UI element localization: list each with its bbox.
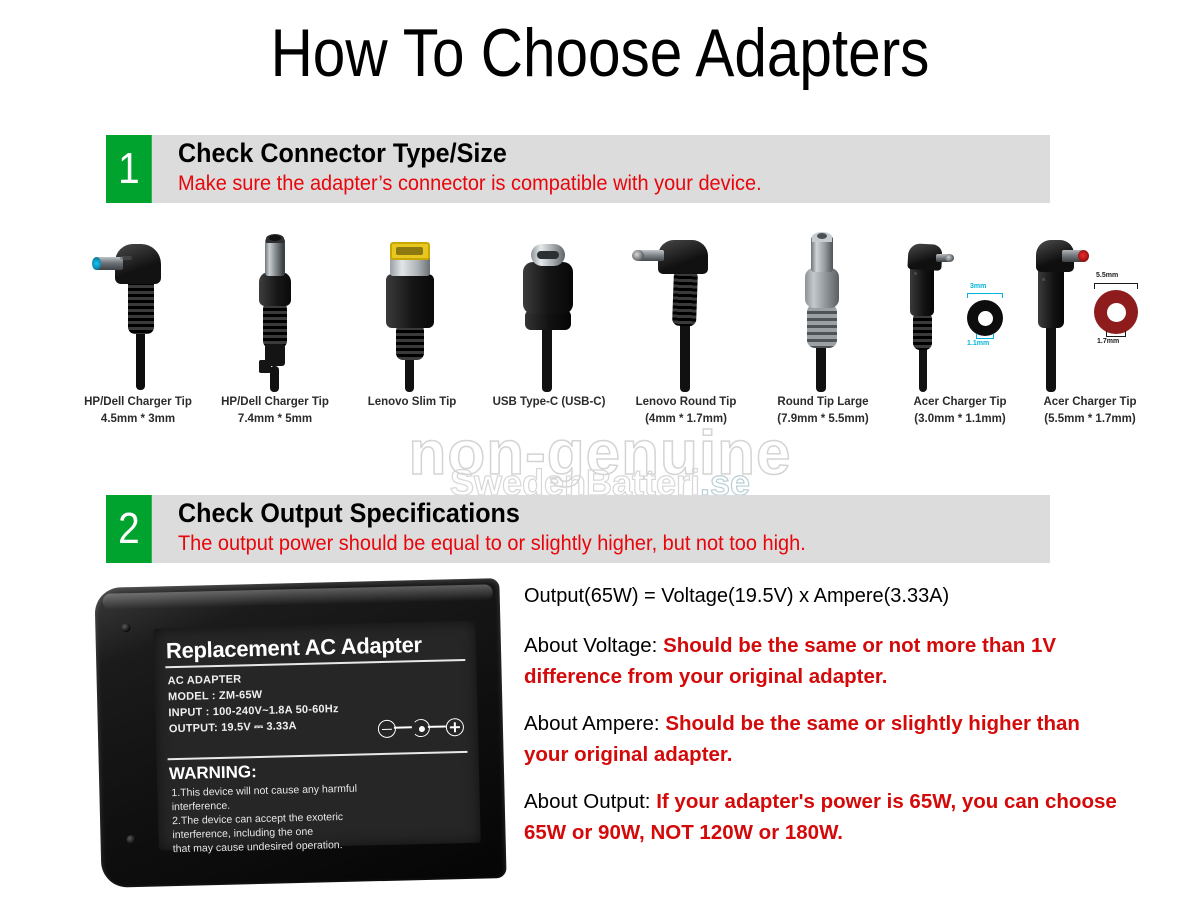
connector-item-acer-3.0[interactable]: 3mm 1.1mm Acer Charger Tip(3.0mm * 1.1mm…	[892, 228, 1028, 443]
acer-charger-tip-small-icon: 3mm 1.1mm	[892, 228, 1028, 393]
acer-5.5mm-dimension-diagram: 5.5mm 1.7mm	[1084, 272, 1154, 346]
step-1-header-band: 1 Check Connector Type/Size Make sure th…	[106, 135, 1050, 203]
infographic-page: How To Choose Adapters 1 Check Connector…	[0, 0, 1200, 900]
connector-gallery: HP/Dell Charger Tip4.5mm * 3mm HP/Dell C…	[60, 228, 1150, 443]
connector-item-lenovo-slim[interactable]: Lenovo Slim Tip	[344, 228, 480, 443]
adapter-label-panel: Replacement AC Adapter AC ADAPTER MODEL …	[153, 621, 480, 851]
adapter-warning-line-1: 1.This device will not cause any harmful	[171, 782, 357, 801]
connector-item-round-large[interactable]: Round Tip Large(7.9mm * 5.5mm)	[755, 228, 891, 443]
acer-charger-tip-large-icon: 5.5mm 1.7mm	[1022, 228, 1158, 393]
connector-item-hp-dell-7.4mm[interactable]: HP/Dell Charger Tip7.4mm * 5mm	[207, 228, 343, 443]
usb-type-c-connector-icon	[481, 228, 617, 393]
step-1-title: Check Connector Type/Size	[178, 137, 983, 169]
adapter-spec-input: INPUT : 100-240V~1.8A 50-60Hz	[168, 702, 338, 721]
adapter-screw-top-left	[121, 623, 130, 632]
connector-caption: Lenovo Round Tip(4mm * 1.7mm)	[606, 394, 766, 428]
lenovo-slim-rectangular-tip-icon	[344, 228, 480, 393]
round-tip-large-gray-icon	[755, 228, 891, 393]
connector-caption: Round Tip Large(7.9mm * 5.5mm)	[743, 394, 903, 428]
step-2-subtitle: The output power should be equal to or s…	[178, 531, 1001, 557]
output-specs-text-column: Output(65W) = Voltage(19.5V) x Ampere(3.…	[524, 585, 1124, 864]
connector-caption: HP/Dell Charger Tip7.4mm * 5mm	[195, 394, 355, 428]
adapter-spec-model: MODEL : ZM-65W	[168, 688, 263, 705]
adapter-screw-bottom-left	[126, 835, 135, 844]
step-2-number-badge: 2	[106, 495, 152, 563]
connector-caption: HP/Dell Charger Tip4.5mm * 3mm	[58, 394, 218, 428]
page-title: How To Choose Adapters	[84, 14, 1116, 92]
acer-3mm-dimension-diagram: 3mm 1.1mm	[958, 284, 1020, 346]
step-2-header-band: 2 Check Output Specifications The output…	[106, 495, 1050, 563]
connector-item-acer-5.5[interactable]: 5.5mm 1.7mm Acer Charger Tip(5.5mm * 1.7…	[1022, 228, 1158, 443]
connector-item-lenovo-round[interactable]: Lenovo Round Tip(4mm * 1.7mm)	[618, 228, 754, 443]
adapter-brand-title: Replacement AC Adapter	[166, 632, 422, 664]
step-1-subtitle: Make sure the adapter’s connector is com…	[178, 171, 1001, 197]
label-divider-bottom	[168, 751, 468, 760]
center-positive-polarity-icon	[378, 717, 462, 737]
adapter-warning-line-5: that may cause undesired operation.	[173, 838, 343, 856]
connector-item-usb-c[interactable]: USB Type-C (USB-C)	[481, 228, 617, 443]
step-1-number-badge: 1	[106, 135, 152, 203]
adapter-warning-line-2: interference.	[172, 799, 231, 814]
lenovo-round-angled-tip-icon	[618, 228, 754, 393]
step-2-title: Check Output Specifications	[178, 497, 983, 529]
adapter-spec-ac: AC ADAPTER	[168, 672, 242, 689]
connector-caption: Acer Charger Tip(5.5mm * 1.7mm)	[1010, 394, 1170, 428]
about-output-label: About Output:	[524, 790, 656, 813]
about-ampere-line: About Ampere: Should be the same or slig…	[524, 708, 1124, 770]
ac-adapter-photo: Replacement AC Adapter AC ADAPTER MODEL …	[88, 575, 508, 895]
about-output-line: About Output: If your adapter's power is…	[524, 786, 1124, 848]
about-voltage-label: About Voltage:	[524, 634, 663, 657]
adapter-spec-output: OUTPUT: 19.5V ⎓ 3.33A	[169, 719, 297, 737]
step-2-text-group: Check Output Specifications The output p…	[178, 495, 1044, 563]
about-ampere-label: About Ampere:	[524, 712, 665, 735]
connector-caption: USB Type-C (USB-C)	[469, 394, 629, 411]
connector-caption: Lenovo Slim Tip	[332, 394, 492, 411]
hp-dell-straight-barrel-tip-icon	[207, 228, 343, 393]
connector-item-hp-dell-4.5mm[interactable]: HP/Dell Charger Tip4.5mm * 3mm	[70, 228, 206, 443]
hp-dell-angled-blue-tip-icon	[70, 228, 206, 393]
output-formula: Output(65W) = Voltage(19.5V) x Ampere(3.…	[524, 585, 1124, 608]
adapter-body: Replacement AC Adapter AC ADAPTER MODEL …	[94, 578, 506, 888]
step-1-text-group: Check Connector Type/Size Make sure the …	[178, 135, 1044, 203]
about-voltage-line: About Voltage: Should be the same or not…	[524, 630, 1124, 692]
adapter-gloss-highlight	[103, 584, 493, 610]
adapter-warning-heading: WARNING:	[169, 762, 257, 784]
